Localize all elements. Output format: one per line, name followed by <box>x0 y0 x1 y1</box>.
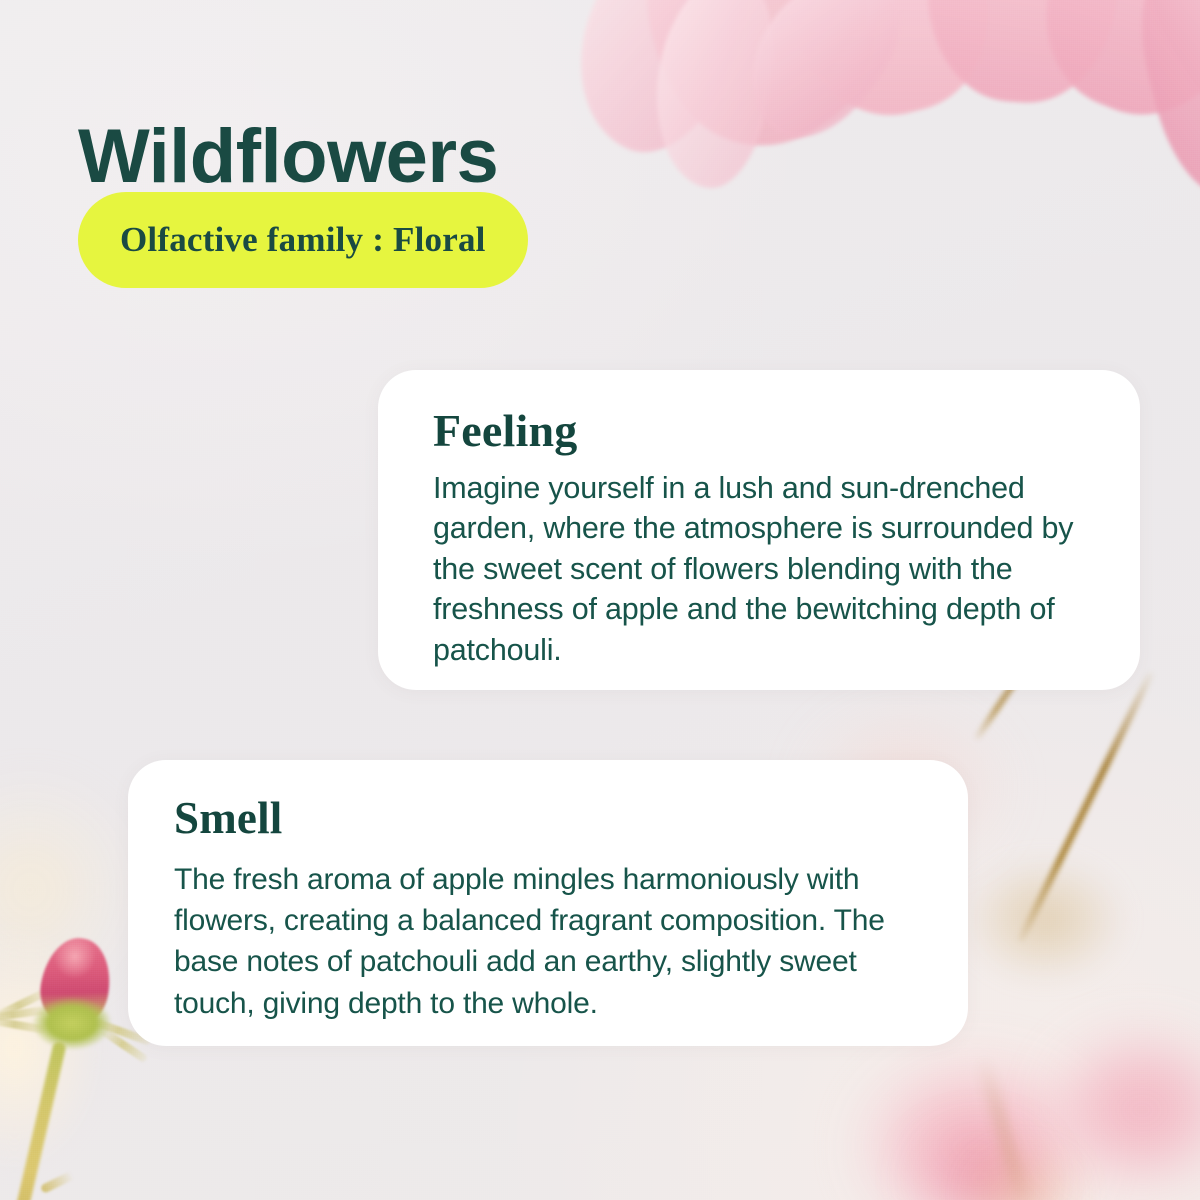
poster-canvas: Wildflowers Olfactive family : Floral Fe… <box>0 0 1200 1200</box>
page-title: Wildflowers <box>78 117 498 197</box>
smell-card-heading: Smell <box>174 794 920 843</box>
olfactive-family-label: Olfactive family : Floral <box>120 220 486 260</box>
feeling-card-body: Imagine yourself in a lush and sun-drenc… <box>433 468 1088 671</box>
olfactive-family-badge: Olfactive family : Floral <box>78 192 528 288</box>
smell-card: Smell The fresh aroma of apple mingles h… <box>128 760 968 1046</box>
smell-card-body: The fresh aroma of apple mingles harmoni… <box>174 859 920 1025</box>
feeling-card-heading: Feeling <box>433 406 1088 456</box>
cosmos-flower-top-right <box>600 0 1200 400</box>
feeling-card: Feeling Imagine yourself in a lush and s… <box>378 370 1140 690</box>
